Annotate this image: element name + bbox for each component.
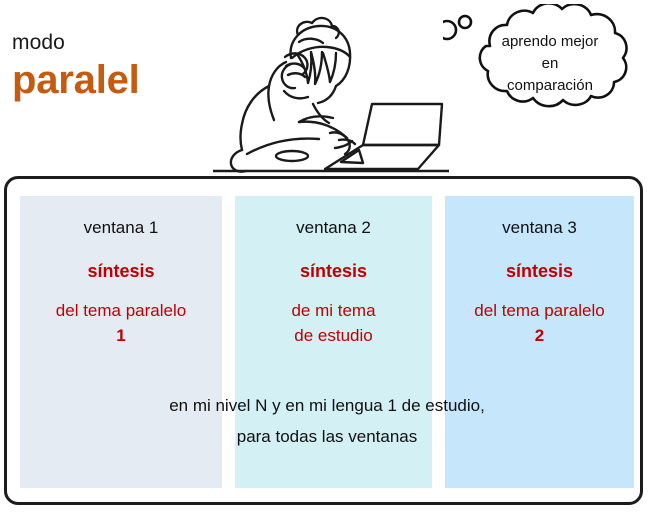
synthesis-heading-3: síntesis bbox=[445, 261, 634, 283]
title-block: modo paralel bbox=[12, 32, 222, 103]
window-column-2-content: ventana 2 síntesis de mi tema de estudio bbox=[235, 218, 432, 348]
synthesis-desc-3-line-1: del tema paralelo bbox=[445, 299, 634, 324]
synthesis-desc-2-line-1: de mi tema bbox=[235, 299, 432, 324]
window-label-1: ventana 1 bbox=[20, 218, 222, 238]
window-label-3: ventana 3 bbox=[445, 218, 634, 238]
window-column-3-content: ventana 3 síntesis del tema paralelo 2 bbox=[445, 218, 634, 348]
bubble-line-1: aprendo mejor bbox=[455, 31, 645, 53]
synthesis-desc-2-line-2: de estudio bbox=[235, 324, 432, 349]
windows-column-group: ventana 1 síntesis del tema paralelo 1 v… bbox=[20, 196, 634, 488]
synthesis-heading-2: síntesis bbox=[235, 261, 432, 283]
synthesis-heading-1: síntesis bbox=[20, 261, 222, 283]
synthesis-desc-1-line-2: 1 bbox=[20, 324, 222, 349]
bubble-line-3: comparación bbox=[455, 75, 645, 97]
mode-name: paralel bbox=[12, 58, 222, 103]
person-studying-at-laptop-icon bbox=[213, 2, 449, 176]
synthesis-description-2: de mi tema de estudio bbox=[235, 299, 432, 348]
thought-bubble-text: aprendo mejor en comparación bbox=[455, 31, 645, 96]
window-column-2[interactable]: ventana 2 síntesis de mi tema de estudio bbox=[235, 196, 432, 488]
synthesis-desc-1-line-1: del tema paralelo bbox=[20, 299, 222, 324]
synthesis-description-3: del tema paralelo 2 bbox=[445, 299, 634, 348]
header-area: modo paralel bbox=[0, 0, 657, 176]
synthesis-description-1: del tema paralelo 1 bbox=[20, 299, 222, 348]
window-column-3[interactable]: ventana 3 síntesis del tema paralelo 2 bbox=[445, 196, 634, 488]
window-column-1-content: ventana 1 síntesis del tema paralelo 1 bbox=[20, 218, 222, 348]
window-label-2: ventana 2 bbox=[235, 218, 432, 238]
window-column-1[interactable]: ventana 1 síntesis del tema paralelo 1 bbox=[20, 196, 222, 488]
synthesis-desc-3-line-2: 2 bbox=[445, 324, 634, 349]
mode-label: modo bbox=[12, 32, 222, 54]
bubble-line-2: en bbox=[455, 53, 645, 75]
